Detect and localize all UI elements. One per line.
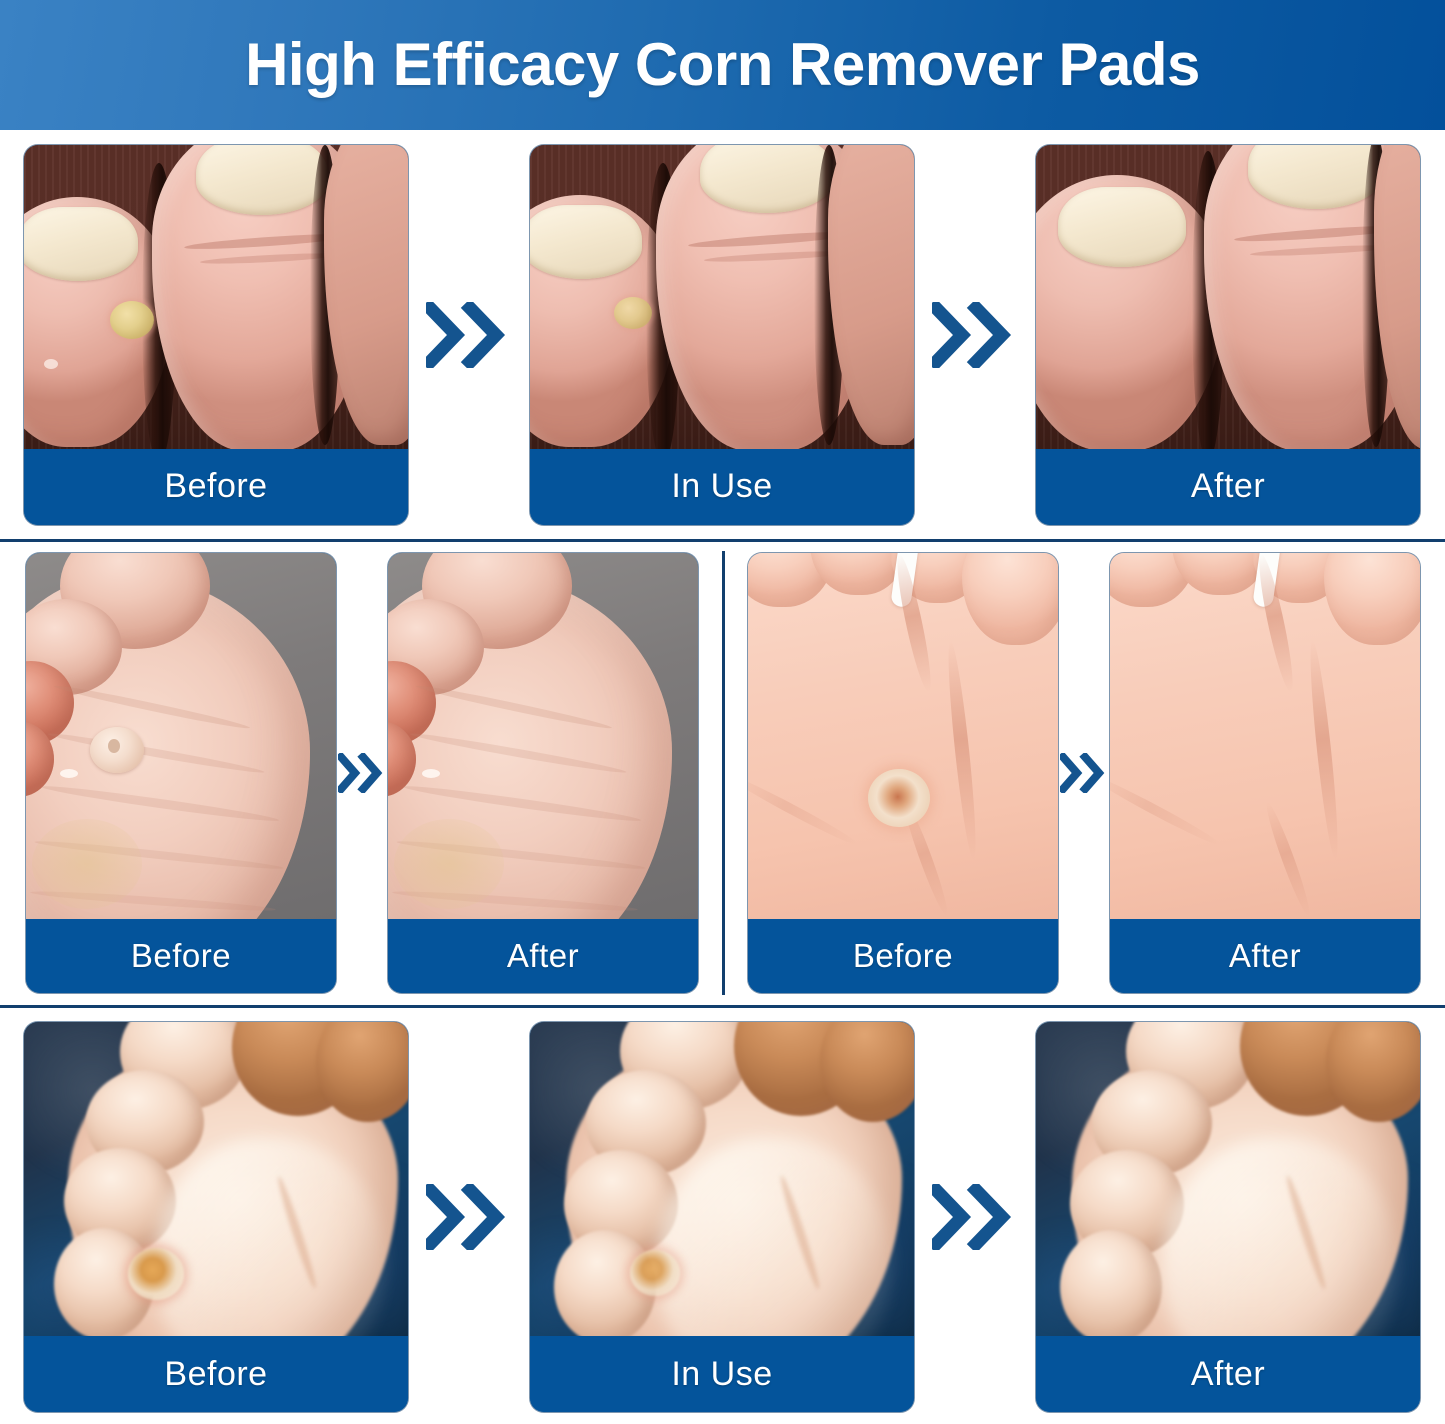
photo-sole-pink-before xyxy=(748,553,1058,919)
caption-r3-after: After xyxy=(1036,1336,1420,1412)
caption-r3-before: Before xyxy=(24,1336,408,1412)
caption-r2-before-left: Before xyxy=(26,919,336,993)
caption-r2-after-left: After xyxy=(388,919,698,993)
cell-r2-before-left: Before xyxy=(26,543,336,1003)
photo-blurred-sole-inuse xyxy=(530,1022,914,1336)
card-r3-before[interactable]: Before xyxy=(24,1022,408,1412)
card-r2-before-right[interactable]: Before xyxy=(748,553,1058,993)
card-r3-after[interactable]: After xyxy=(1036,1022,1420,1412)
photo-blurred-sole-before xyxy=(24,1022,408,1336)
card-r3-inuse[interactable]: In Use xyxy=(530,1022,914,1412)
card-r2-after-right[interactable]: After xyxy=(1110,553,1420,993)
chevron-double-right-icon xyxy=(426,302,512,368)
chevron-double-right-icon xyxy=(932,1184,1018,1250)
divider-row1-row2 xyxy=(0,539,1445,542)
chevron-double-right-icon xyxy=(426,1184,512,1250)
divider-row2-groups xyxy=(722,551,725,995)
arrow-r3-1 xyxy=(408,1010,530,1424)
caption-r2-before-right: Before xyxy=(748,919,1058,993)
cell-r2-after-left: After xyxy=(388,543,698,1003)
infographic-page: High Efficacy Corn Remover Pads xyxy=(0,0,1445,1424)
photo-sole-grey-after xyxy=(388,553,698,919)
cell-r2-before-right: Before xyxy=(748,543,1058,1003)
card-r1-after[interactable]: After xyxy=(1036,145,1420,525)
card-r1-inuse[interactable]: In Use xyxy=(530,145,914,525)
photo-sole-grey-before xyxy=(26,553,336,919)
caption-r1-inuse: In Use xyxy=(530,449,914,525)
caption-r1-before: Before xyxy=(24,449,408,525)
card-r2-before-left[interactable]: Before xyxy=(26,553,336,993)
arrow-r1-1 xyxy=(408,133,530,536)
cell-r3-after: After xyxy=(1036,1010,1420,1424)
photo-toe-before xyxy=(24,145,408,449)
card-r2-after-left[interactable]: After xyxy=(388,553,698,993)
caption-r3-inuse: In Use xyxy=(530,1336,914,1412)
arrow-r1-2 xyxy=(914,133,1036,536)
page-title: High Efficacy Corn Remover Pads xyxy=(245,35,1200,95)
row-sole-corn-pairs: Before xyxy=(0,543,1445,1003)
cell-r1-after: After xyxy=(1036,133,1420,536)
row-plantar-wart-sequence: Before xyxy=(0,1010,1445,1424)
caption-r1-after: After xyxy=(1036,449,1420,525)
card-r1-before[interactable]: Before xyxy=(24,145,408,525)
divider-row2-row3 xyxy=(0,1005,1445,1008)
arrow-r2-1 xyxy=(336,543,388,1003)
caption-r2-after-right: After xyxy=(1110,919,1420,993)
cell-r3-inuse: In Use xyxy=(530,1010,914,1424)
chevron-double-right-icon xyxy=(338,753,386,793)
photo-toe-after xyxy=(1036,145,1420,449)
cell-r1-before: Before xyxy=(24,133,408,536)
cell-r3-before: Before xyxy=(24,1010,408,1424)
arrow-r2-2 xyxy=(1058,543,1110,1003)
chevron-double-right-icon xyxy=(932,302,1018,368)
arrow-r3-2 xyxy=(914,1010,1036,1424)
photo-toe-inuse xyxy=(530,145,914,449)
row-toe-corn-sequence: Before xyxy=(0,133,1445,536)
cell-r1-inuse: In Use xyxy=(530,133,914,536)
photo-blurred-sole-after xyxy=(1036,1022,1420,1336)
header-banner: High Efficacy Corn Remover Pads xyxy=(0,0,1445,130)
photo-sole-pink-after xyxy=(1110,553,1420,919)
cell-r2-after-right: After xyxy=(1110,543,1420,1003)
chevron-double-right-icon xyxy=(1060,753,1108,793)
